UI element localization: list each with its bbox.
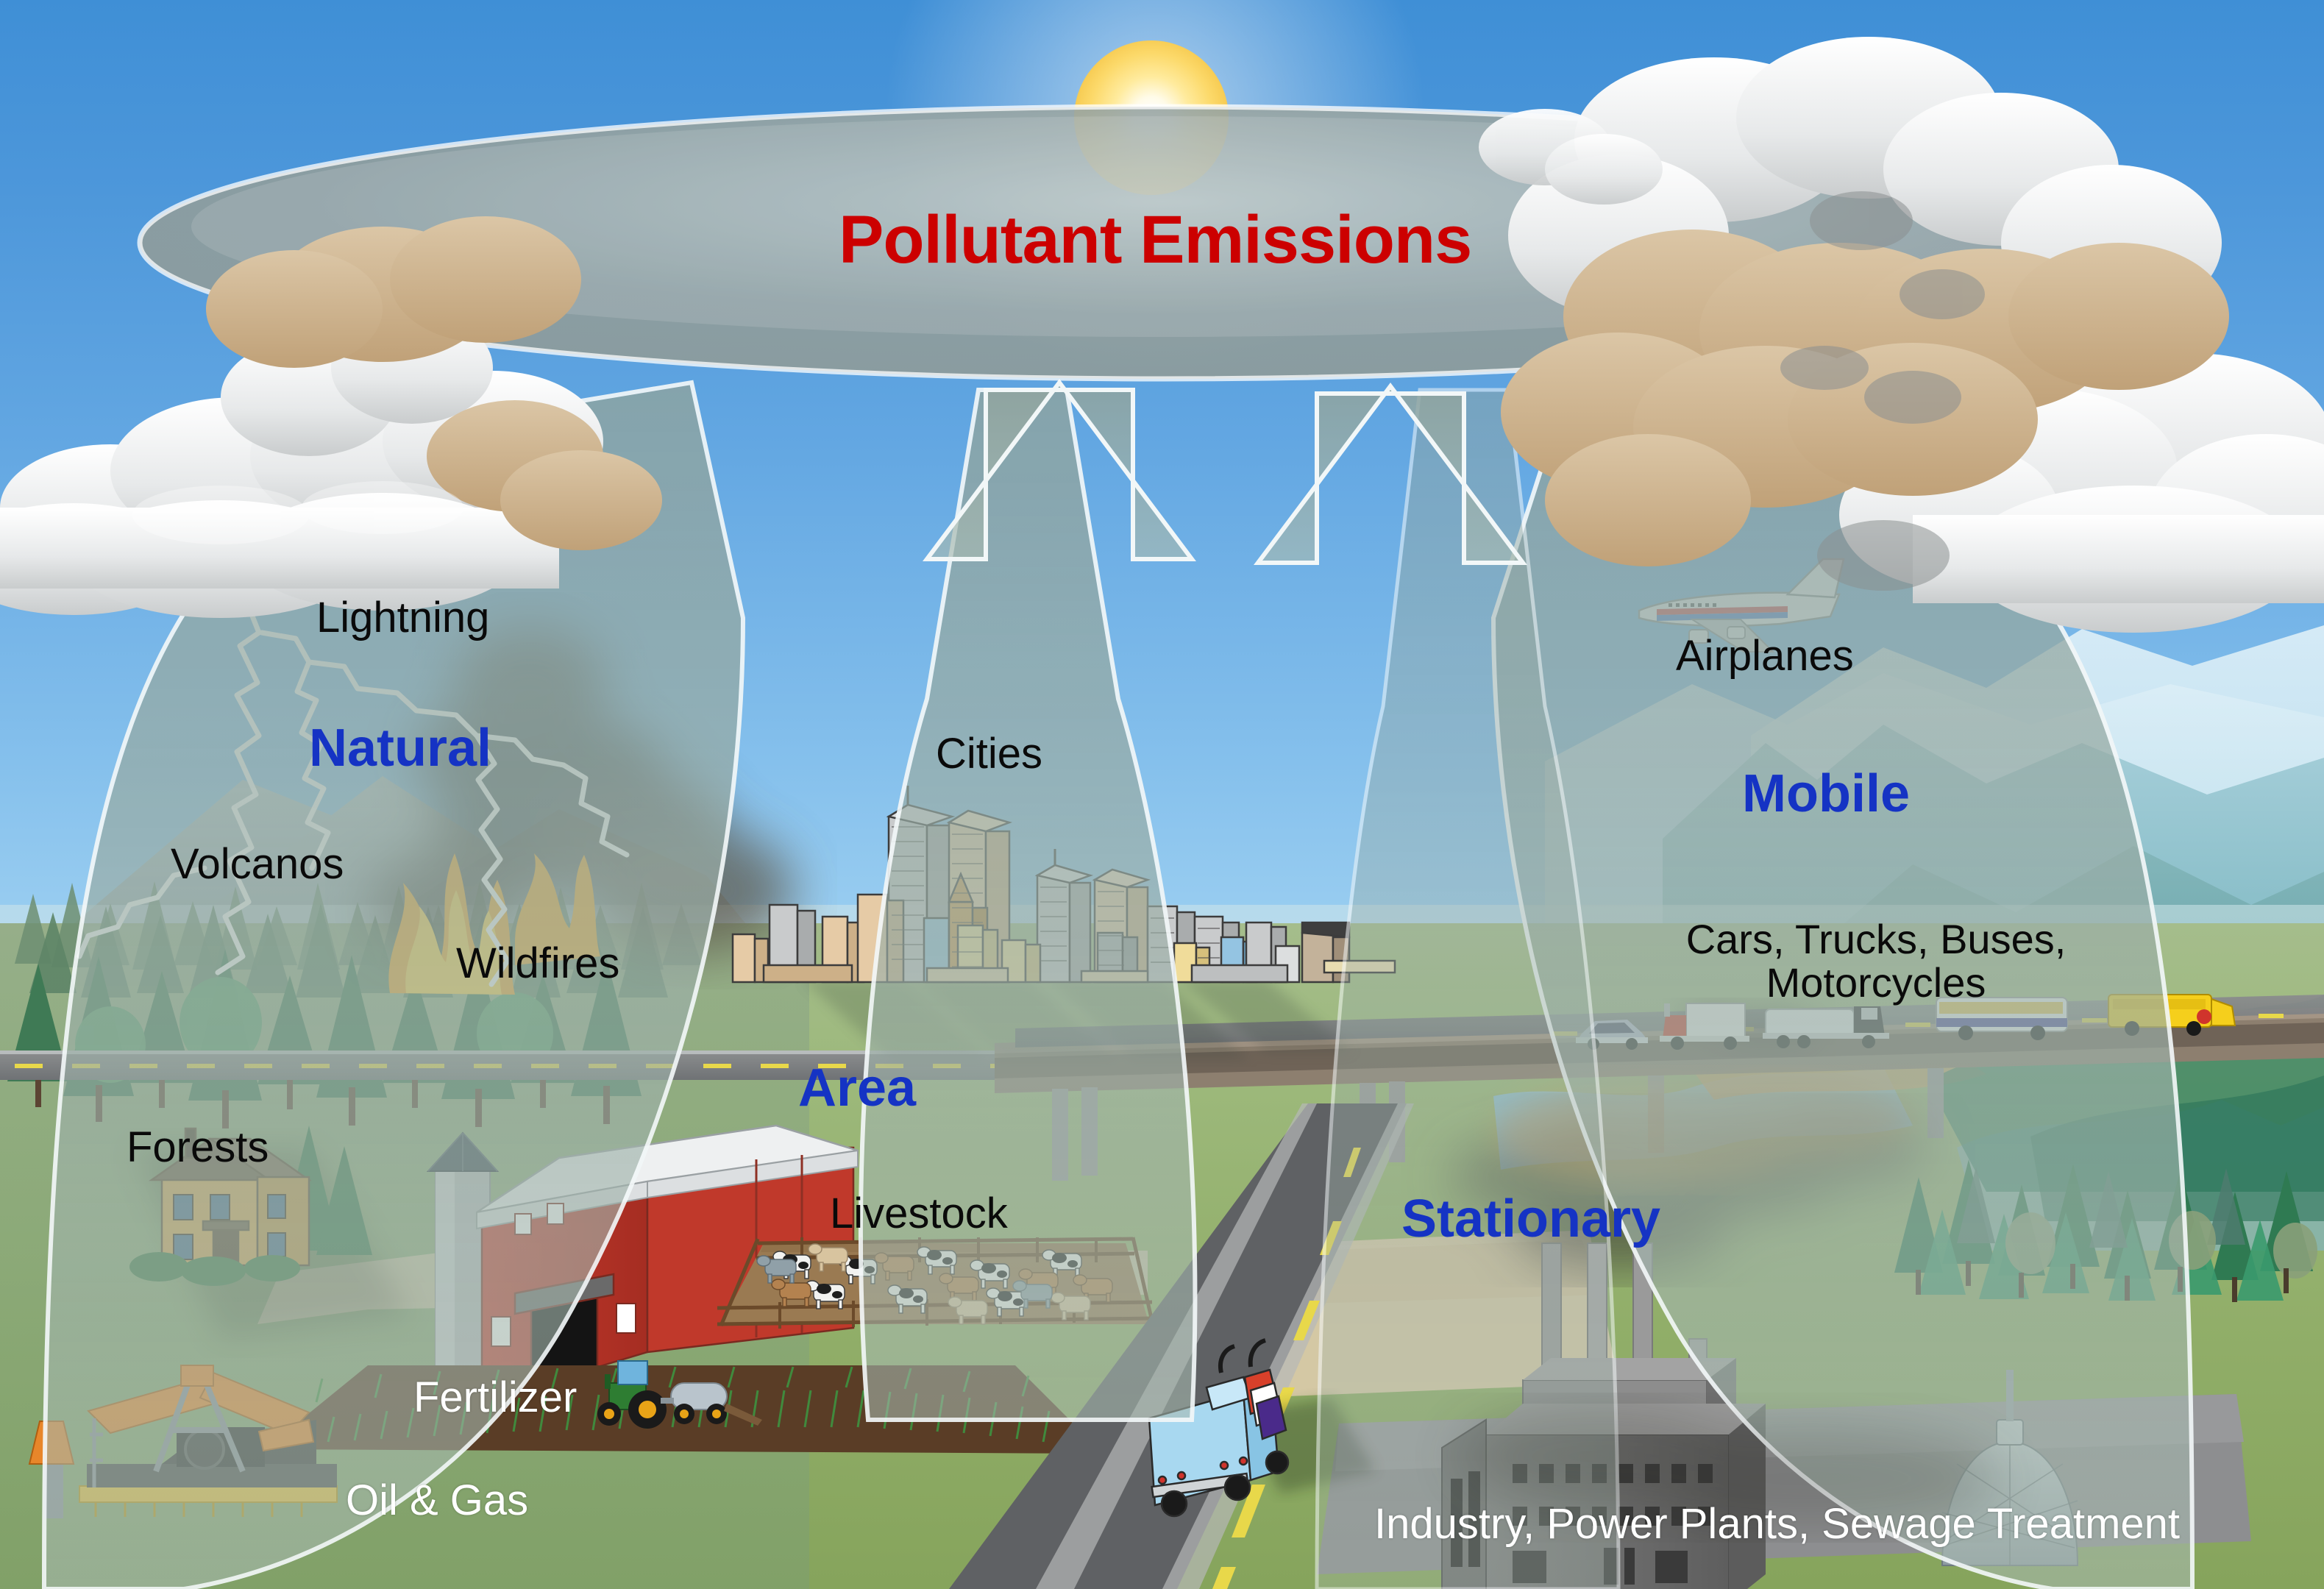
- label-oil-gas: Oil & Gas: [346, 1479, 528, 1524]
- label-livestock: Livestock: [830, 1192, 1008, 1237]
- label-cities: Cities: [936, 732, 1042, 777]
- label-industry: Industry, Power Plants, Sewage Treatment: [1374, 1502, 2180, 1547]
- label-lightning: Lightning: [316, 596, 489, 641]
- label-natural: Natural: [309, 721, 491, 777]
- label-wildfires: Wildfires: [456, 942, 619, 987]
- label-vehicles-line2: Motorcycles: [1670, 961, 2082, 1005]
- infographic-canvas: Pollutant Emissions Lightning Natural Vo…: [0, 0, 2324, 1589]
- label-stationary: Stationary: [1401, 1192, 1660, 1248]
- label-mobile: Mobile: [1742, 767, 1910, 822]
- label-volcanos: Volcanos: [171, 842, 344, 887]
- label-fertilizer: Fertilizer: [413, 1376, 577, 1421]
- label-area: Area: [798, 1061, 916, 1117]
- label-vehicles: Cars, Trucks, Buses, Motorcycles: [1670, 918, 2082, 1005]
- label-vehicles-line1: Cars, Trucks, Buses,: [1670, 918, 2082, 961]
- page-title: Pollutant Emissions: [839, 205, 1471, 276]
- label-airplanes: Airplanes: [1676, 634, 1854, 679]
- label-forests: Forests: [127, 1126, 269, 1170]
